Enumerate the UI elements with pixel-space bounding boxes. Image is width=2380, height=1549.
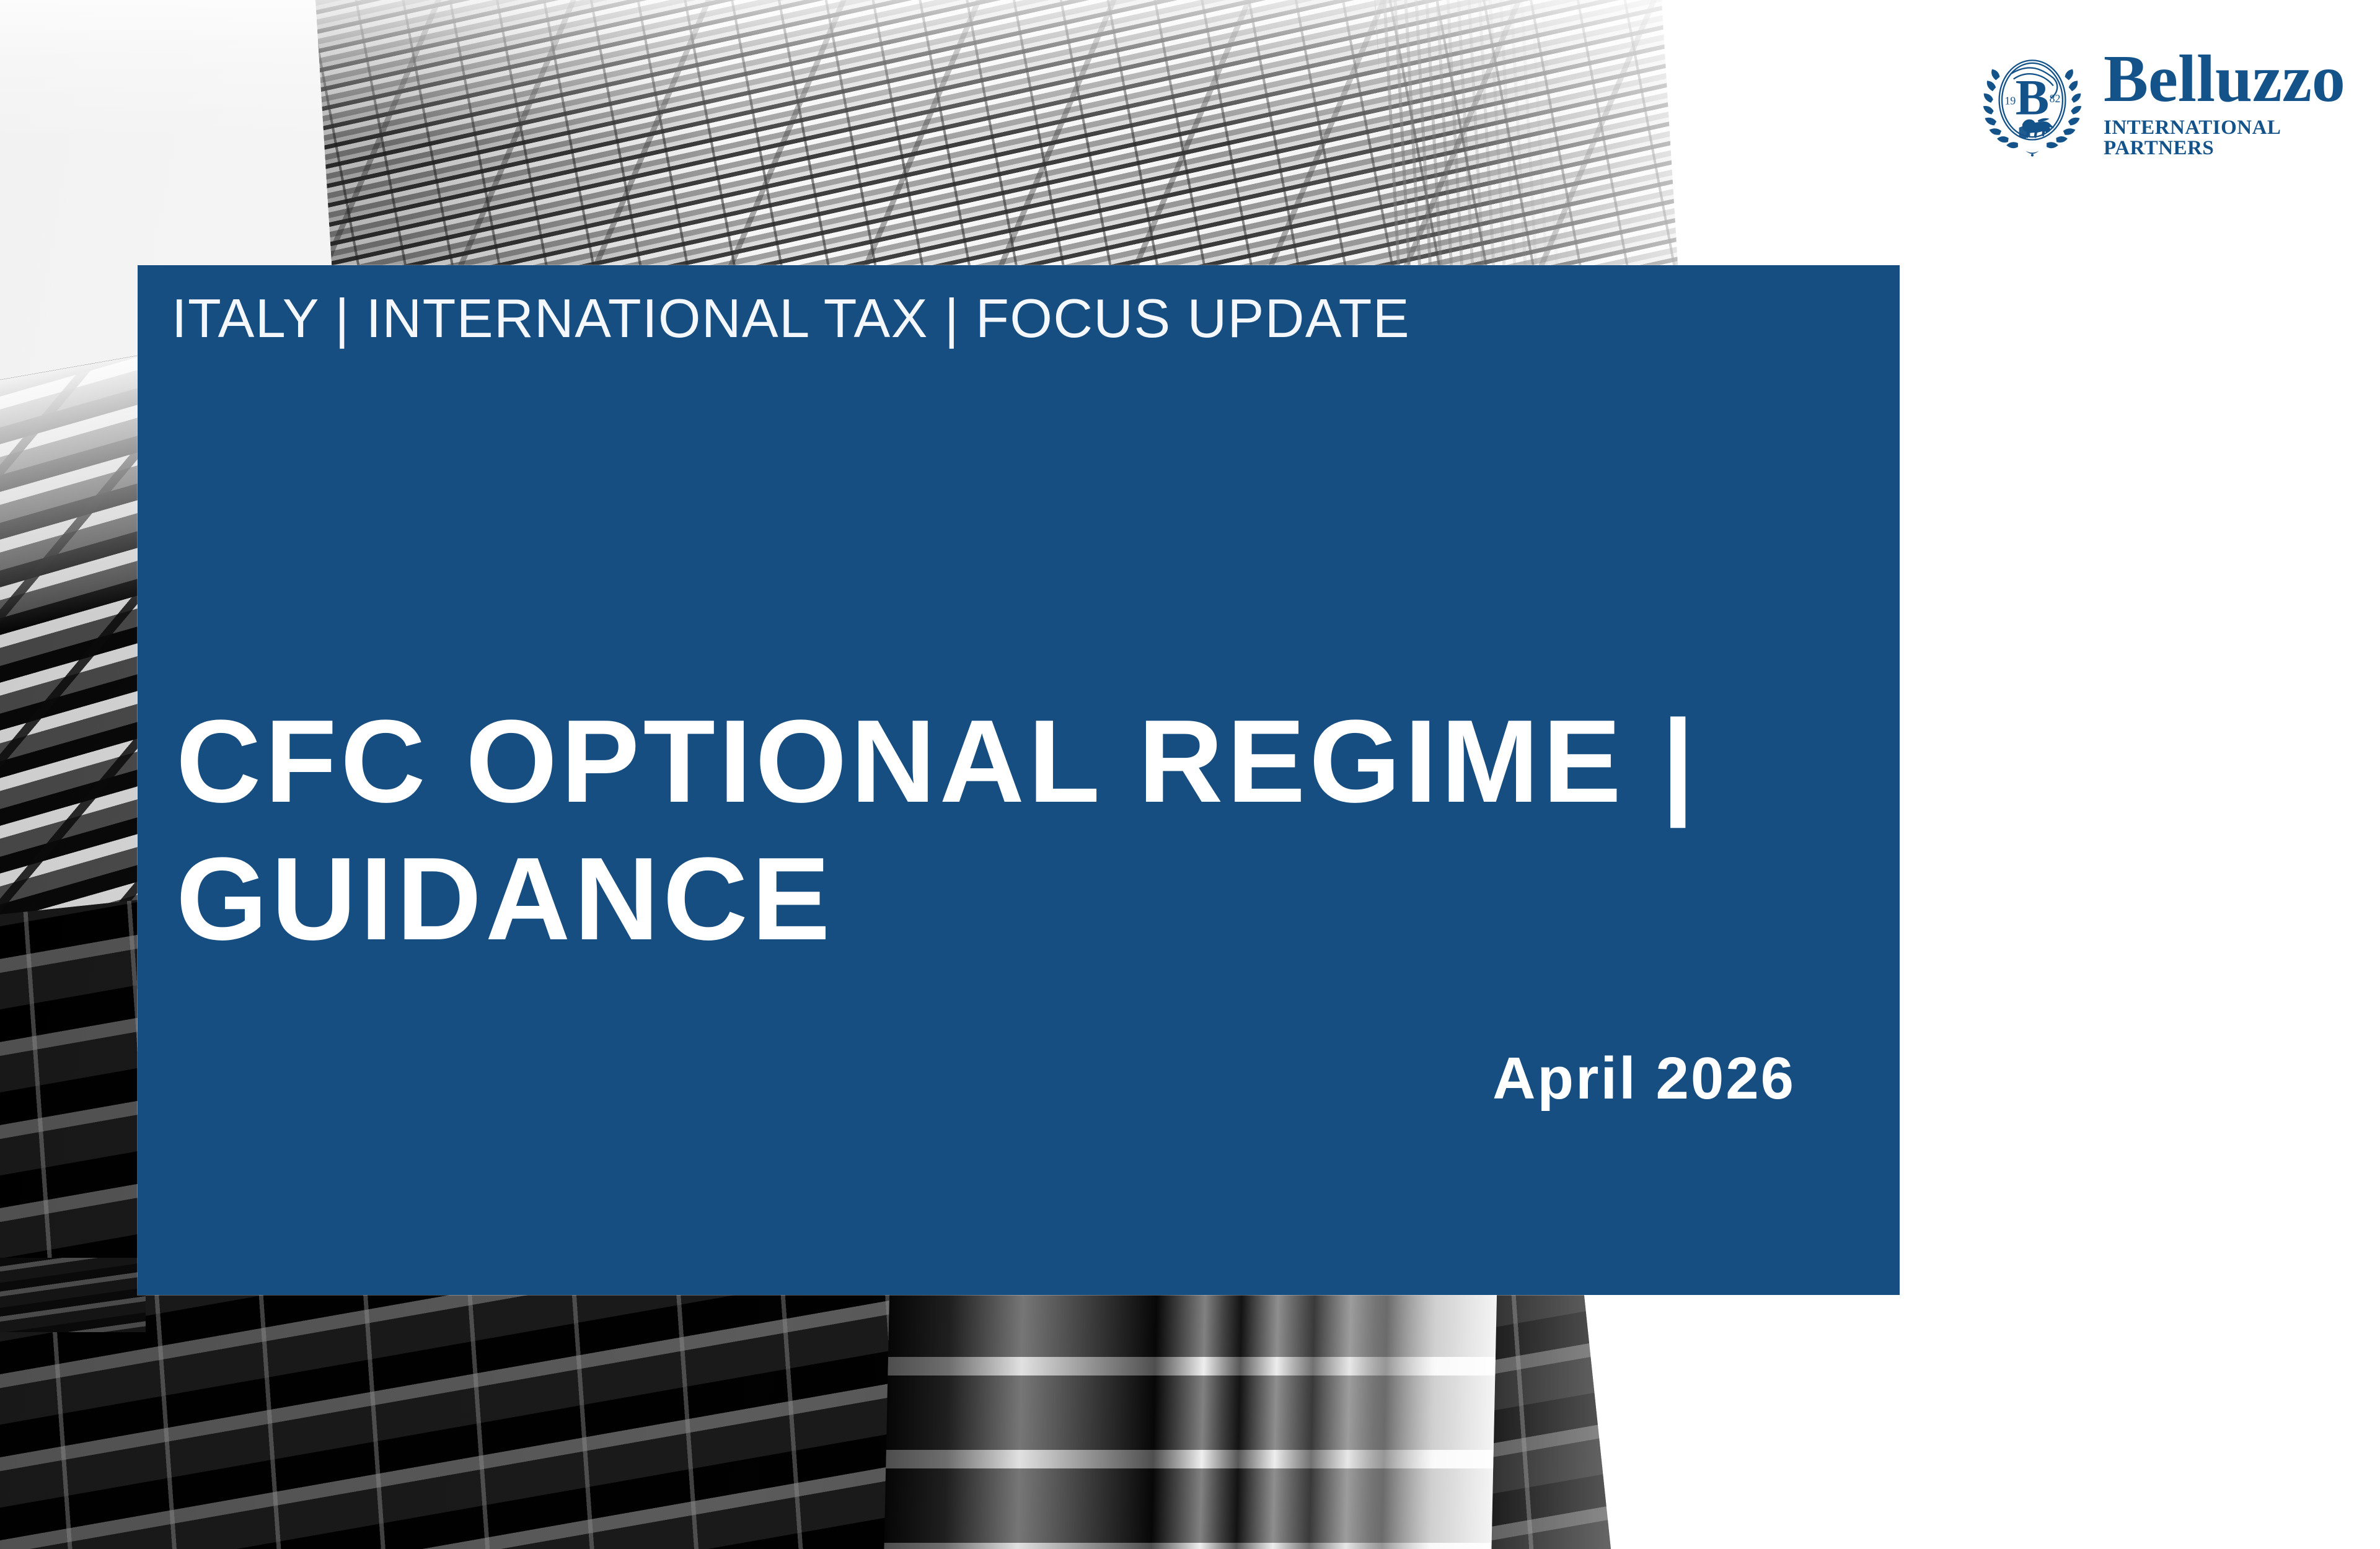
logo-tagline: INTERNATIONAL PARTNERS [2104,118,2349,159]
publication-date: April 2026 [1492,1045,1796,1113]
bright-strip-fade [883,1283,1497,1549]
panel-eyebrow: ITALY | INTERNATIONAL TAX | FOCUS UPDATE [172,287,1410,350]
svg-text:19: 19 [2005,95,2016,107]
title-panel: ITALY | INTERNATIONAL TAX | FOCUS UPDATE… [138,265,1900,1295]
skyscraper-bright-strip [883,1283,1497,1549]
svg-text:82: 82 [2050,92,2061,105]
brand-logo: B 19 82 Belluzzo INTERNATIONAL PARTNERS [1977,43,2349,161]
page-title: CFC OPTIONAL REGIME | GUIDANCE [176,693,1698,968]
bottom-left-facade-sliver [0,1258,146,1332]
belluzzo-crest-icon: B 19 82 [1977,47,2087,157]
logo-wordmark: Belluzzo INTERNATIONAL PARTNERS [2104,46,2349,159]
logo-brand-name: Belluzzo [2104,46,2349,113]
slide-canvas: ITALY | INTERNATIONAL TAX | FOCUS UPDATE… [0,0,2380,1549]
svg-text:B: B [2016,69,2050,126]
